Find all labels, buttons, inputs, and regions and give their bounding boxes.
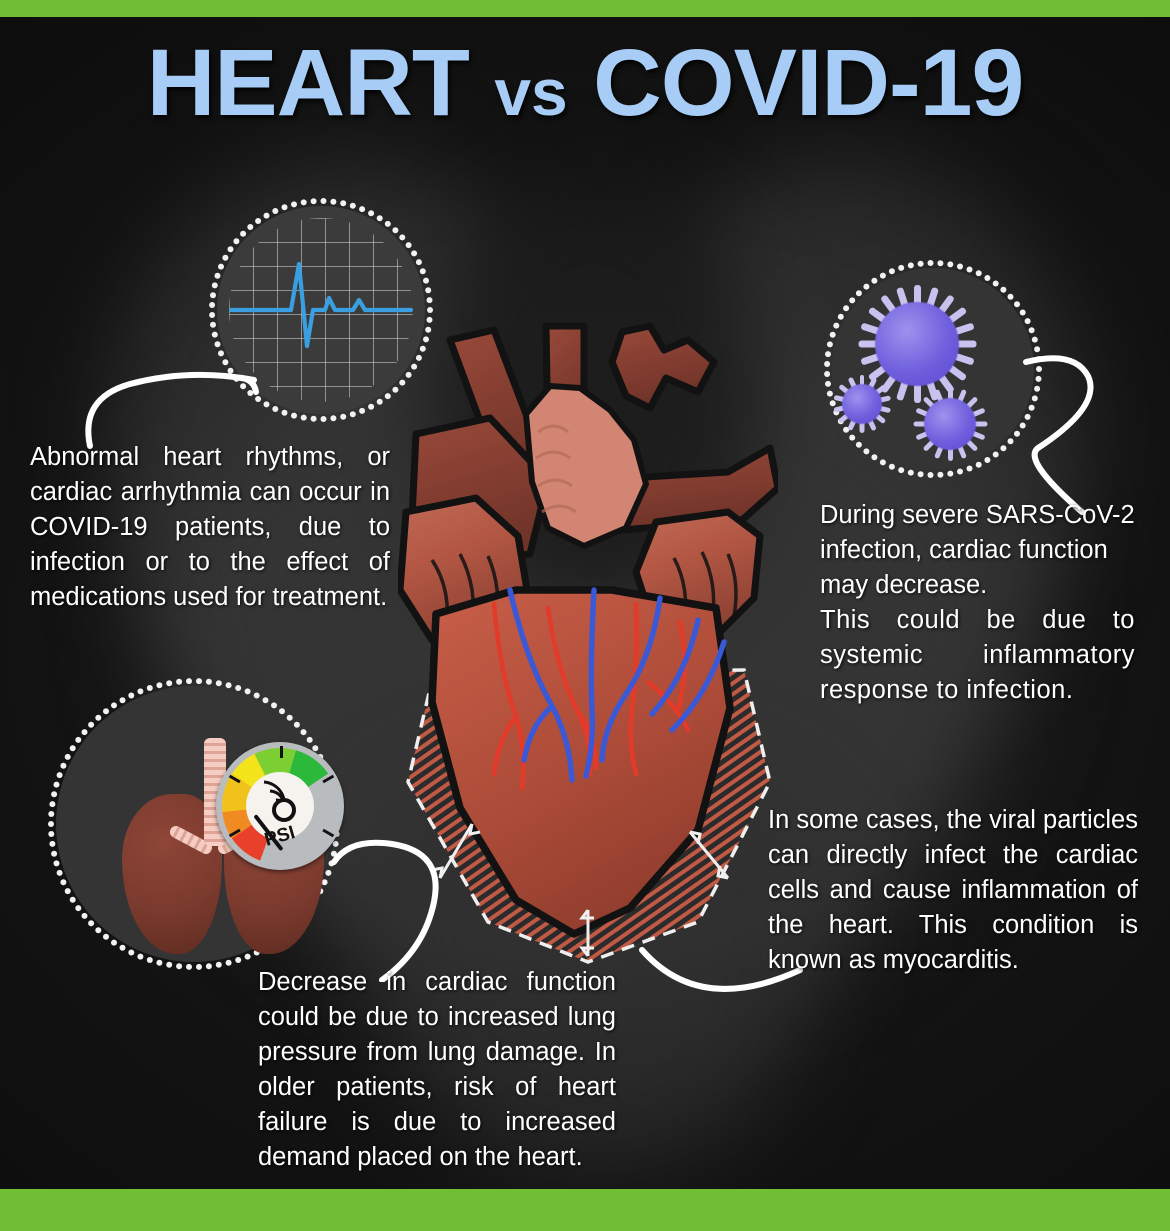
callout-lung-pressure: Decrease in cardiac function could be du… <box>258 965 616 1175</box>
bottom-green-border <box>0 1189 1170 1231</box>
callout-cardiac-function-line1: During severe SARS-CoV-2 infection, card… <box>820 498 1135 603</box>
callout-myocarditis: In some cases, the viral particles can d… <box>768 803 1138 978</box>
anatomical-heart-illustration <box>398 322 778 972</box>
lungs-medallion: PSI <box>46 676 342 972</box>
title-covid: COVID-19 <box>593 30 1023 136</box>
virus-medallion <box>822 258 1044 480</box>
title-vs: vs <box>494 55 567 129</box>
callout-myocarditis-text: In some cases, the viral particles can d… <box>768 803 1138 978</box>
top-green-border <box>0 0 1170 17</box>
title-heart: HEART <box>147 30 469 136</box>
infographic-poster: HEART vs COVID-19 <box>0 0 1170 1231</box>
virus-particles <box>822 258 1044 480</box>
callout-arrhythmia: Abnormal heart rhythms, or cardiac arrhy… <box>30 440 390 615</box>
ecg-trace-icon <box>229 218 413 402</box>
callout-arrhythmia-text: Abnormal heart rhythms, or cardiac arrhy… <box>30 440 390 615</box>
callout-lung-pressure-text: Decrease in cardiac function could be du… <box>258 965 616 1175</box>
callout-cardiac-function: During severe SARS-CoV-2 infection, card… <box>820 498 1135 708</box>
callout-cardiac-function-line2: This could be due to systemic inflammato… <box>820 603 1135 708</box>
pressure-gauge-icon: PSI <box>216 742 344 870</box>
page-title: HEART vs COVID-19 <box>0 36 1170 131</box>
ecg-medallion <box>207 196 435 424</box>
